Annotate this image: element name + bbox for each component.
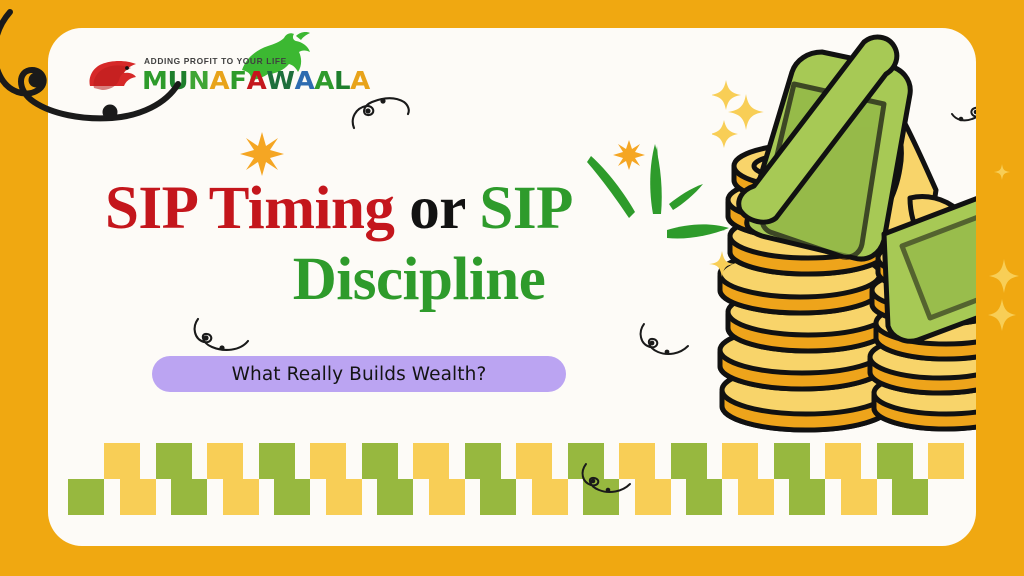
subtitle-text: What Really Builds Wealth? <box>232 364 487 385</box>
checker-square <box>892 479 928 515</box>
logo-letter-2: N <box>188 66 209 95</box>
starburst-icon <box>240 132 284 176</box>
checker-square <box>841 479 877 515</box>
checker-square <box>789 479 825 515</box>
checker-square <box>223 479 259 515</box>
checker-square <box>583 479 619 515</box>
poster-canvas: ADDING PROFIT TO YOUR LIFE MUNAFAWAALA S… <box>0 0 1024 576</box>
checker-square <box>413 443 449 479</box>
checker-square <box>928 443 964 479</box>
headline-part-1: SIP Timing <box>105 175 394 242</box>
checker-square <box>68 479 104 515</box>
checker-square <box>120 479 156 515</box>
logo-letter-5: A <box>247 66 267 95</box>
checker-square <box>156 443 192 479</box>
logo-wordmark: MUNAFAWAALA <box>142 66 370 95</box>
checker-square <box>635 479 671 515</box>
checker-square <box>171 479 207 515</box>
checker-square <box>326 479 362 515</box>
logo-letter-10: A <box>350 66 370 95</box>
logo-letter-6: W <box>266 66 294 95</box>
checker-square <box>686 479 722 515</box>
checker-square <box>722 443 758 479</box>
logo-letter-8: A <box>314 66 334 95</box>
headline-part-2: or <box>409 175 464 242</box>
checker-square <box>465 443 501 479</box>
logo-tagline: ADDING PROFIT TO YOUR LIFE <box>144 56 287 66</box>
logo-letter-9: L <box>334 66 350 95</box>
checker-square <box>310 443 346 479</box>
logo-letter-3: A <box>210 66 230 95</box>
swirl-doodle-icon <box>188 313 263 358</box>
bear-icon <box>86 56 142 94</box>
logo-letter-7: A <box>295 66 315 95</box>
page-title: SIP Timing or SIP Discipline <box>105 173 705 316</box>
sparkle-icon <box>986 255 1020 335</box>
subtitle-badge: What Really Builds Wealth? <box>152 356 566 392</box>
checker-square <box>480 479 516 515</box>
logo-letter-1: U <box>167 66 188 95</box>
checker-square <box>825 443 861 479</box>
checker-square <box>532 479 568 515</box>
checker-square <box>377 479 413 515</box>
checker-square <box>104 443 140 479</box>
logo-letter-0: M <box>142 66 167 95</box>
checker-square <box>516 443 552 479</box>
logo-letter-4: F <box>229 66 246 95</box>
checker-square <box>274 479 310 515</box>
checker-strip <box>76 443 956 518</box>
checker-square <box>774 443 810 479</box>
headline-part-3: SIP <box>479 175 572 242</box>
checker-square <box>207 443 243 479</box>
checker-square <box>568 443 604 479</box>
checker-square <box>619 443 655 479</box>
brand-logo[interactable]: ADDING PROFIT TO YOUR LIFE MUNAFAWAALA <box>86 40 316 102</box>
checker-square <box>429 479 465 515</box>
pot-pouring-gold-coins-illustration <box>678 28 976 438</box>
checker-square <box>362 443 398 479</box>
sparkle-icon <box>994 164 1010 180</box>
content-card: ADDING PROFIT TO YOUR LIFE MUNAFAWAALA S… <box>48 28 976 546</box>
checker-square <box>738 479 774 515</box>
checker-square <box>877 443 913 479</box>
checker-square <box>671 443 707 479</box>
checker-square <box>259 443 295 479</box>
headline-part-4: Discipline <box>293 246 546 313</box>
